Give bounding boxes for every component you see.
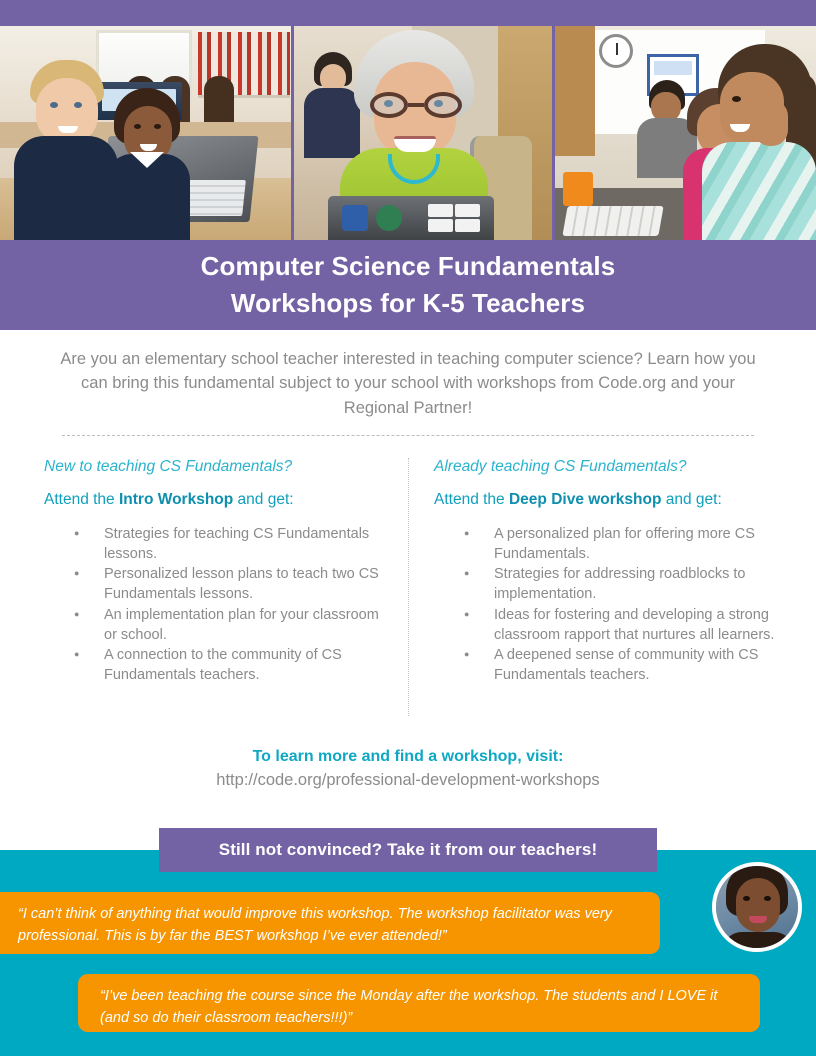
dashed-divider — [62, 435, 754, 436]
column-intro-workshop: New to teaching CS Fundamentals? Attend … — [44, 458, 394, 687]
list-item: A deepened sense of community with CS Fu… — [454, 646, 784, 685]
student-in-teal-hoodie — [696, 44, 816, 240]
column-attend-line: Attend the Deep Dive workshop and get: — [434, 491, 784, 509]
title-banner: Computer Science Fundamentals Workshops … — [0, 240, 816, 330]
keyboard — [562, 206, 663, 236]
workshop-columns: New to teaching CS Fundamentals? Attend … — [0, 458, 816, 720]
testimonial-quote: “I’ve been teaching the course since the… — [78, 974, 760, 1032]
list-item: Personalized lesson plans to teach two C… — [64, 565, 394, 604]
eye — [732, 96, 741, 102]
column-separator — [408, 458, 409, 716]
benefits-list: Strategies for teaching CS Fundamentals … — [44, 525, 394, 686]
avatar-smile — [749, 916, 767, 923]
student-boy — [14, 60, 118, 240]
column-question: New to teaching CS Fundamentals? — [44, 458, 394, 476]
top-purple-bar — [0, 0, 816, 26]
avatar — [712, 862, 802, 952]
list-item: An implementation plan for your classroo… — [64, 606, 394, 645]
polo-shirt — [14, 136, 118, 240]
column-deep-dive-workshop: Already teaching CS Fundamentals? Attend… — [434, 458, 784, 687]
wall-clock-icon — [599, 34, 633, 68]
column-question: Already teaching CS Fundamentals? — [434, 458, 784, 476]
call-to-action: To learn more and find a workshop, visit… — [0, 748, 816, 790]
page-title: Computer Science Fundamentals Workshops … — [201, 248, 616, 323]
eyeglasses-icon — [370, 92, 462, 118]
patterned-hoodie — [702, 142, 816, 240]
attend-prefix: Attend the — [434, 491, 509, 508]
code-org-logo — [428, 204, 480, 232]
laptop-sticker — [342, 205, 368, 231]
testimonials-banner-label: Still not convinced? Take it from our te… — [219, 840, 597, 860]
cta-heading: To learn more and find a workshop, visit… — [0, 748, 816, 766]
photo-smiling-teacher — [294, 26, 552, 240]
testimonial-quote: “I can’t think of anything that would im… — [0, 892, 660, 954]
attend-suffix: and get: — [233, 491, 293, 508]
orange-object — [563, 172, 593, 206]
photo-students-at-computers — [555, 26, 816, 240]
face — [36, 78, 98, 144]
benefits-list: A personalized plan for offering more CS… — [434, 525, 784, 686]
student-girl — [104, 88, 192, 240]
side-wall — [555, 26, 595, 156]
list-item: A personalized plan for offering more CS… — [454, 525, 784, 564]
page-title-line2: Workshops for K-5 Teachers — [231, 288, 585, 318]
hand — [754, 100, 788, 146]
eye — [134, 124, 141, 129]
laptop-lid — [328, 196, 494, 240]
eye — [154, 124, 161, 129]
cta-url-link[interactable]: http://code.org/professional-development… — [0, 771, 816, 790]
photo-two-students-at-laptop — [0, 26, 291, 240]
smile — [394, 136, 436, 152]
page-title-line1: Computer Science Fundamentals — [201, 251, 616, 281]
header-photo-strip — [0, 26, 816, 240]
attend-suffix: and get: — [661, 491, 721, 508]
list-item: Strategies for teaching CS Fundamentals … — [64, 525, 394, 564]
testimonials-banner: Still not convinced? Take it from our te… — [159, 828, 657, 872]
list-item: Ideas for fostering and developing a str… — [454, 606, 784, 645]
laptop-sticker — [376, 205, 402, 231]
workshop-name: Deep Dive workshop — [509, 491, 661, 508]
list-item: A connection to the community of CS Fund… — [64, 646, 394, 685]
attend-prefix: Attend the — [44, 491, 119, 508]
intro-paragraph: Are you an elementary school teacher int… — [58, 347, 758, 420]
eye — [74, 102, 82, 108]
avatar-eye — [764, 896, 771, 901]
avatar-face — [736, 878, 780, 932]
avatar-eye — [743, 896, 750, 901]
list-item: Strategies for addressing roadblocks to … — [454, 565, 784, 604]
workshop-name: Intro Workshop — [119, 491, 233, 508]
eye — [50, 102, 58, 108]
background-student — [204, 76, 234, 122]
column-attend-line: Attend the Intro Workshop and get: — [44, 491, 394, 509]
